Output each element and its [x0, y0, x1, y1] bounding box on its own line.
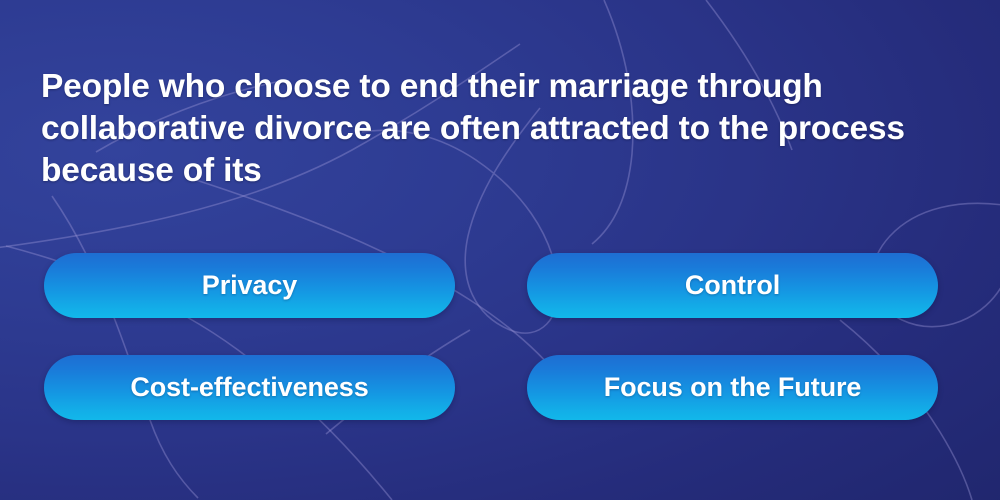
option-label: Privacy [202, 272, 297, 299]
options-grid: Privacy Control Cost-effectiveness Focus… [44, 253, 938, 420]
slide-canvas: People who choose to end their marriage … [0, 0, 1000, 500]
page-title: People who choose to end their marriage … [41, 66, 956, 192]
option-label: Focus on the Future [604, 374, 862, 401]
option-focus-on-the-future[interactable]: Focus on the Future [527, 355, 938, 420]
option-label: Control [685, 272, 780, 299]
option-privacy[interactable]: Privacy [44, 253, 455, 318]
option-control[interactable]: Control [527, 253, 938, 318]
option-cost-effectiveness[interactable]: Cost-effectiveness [44, 355, 455, 420]
option-label: Cost-effectiveness [130, 374, 368, 401]
